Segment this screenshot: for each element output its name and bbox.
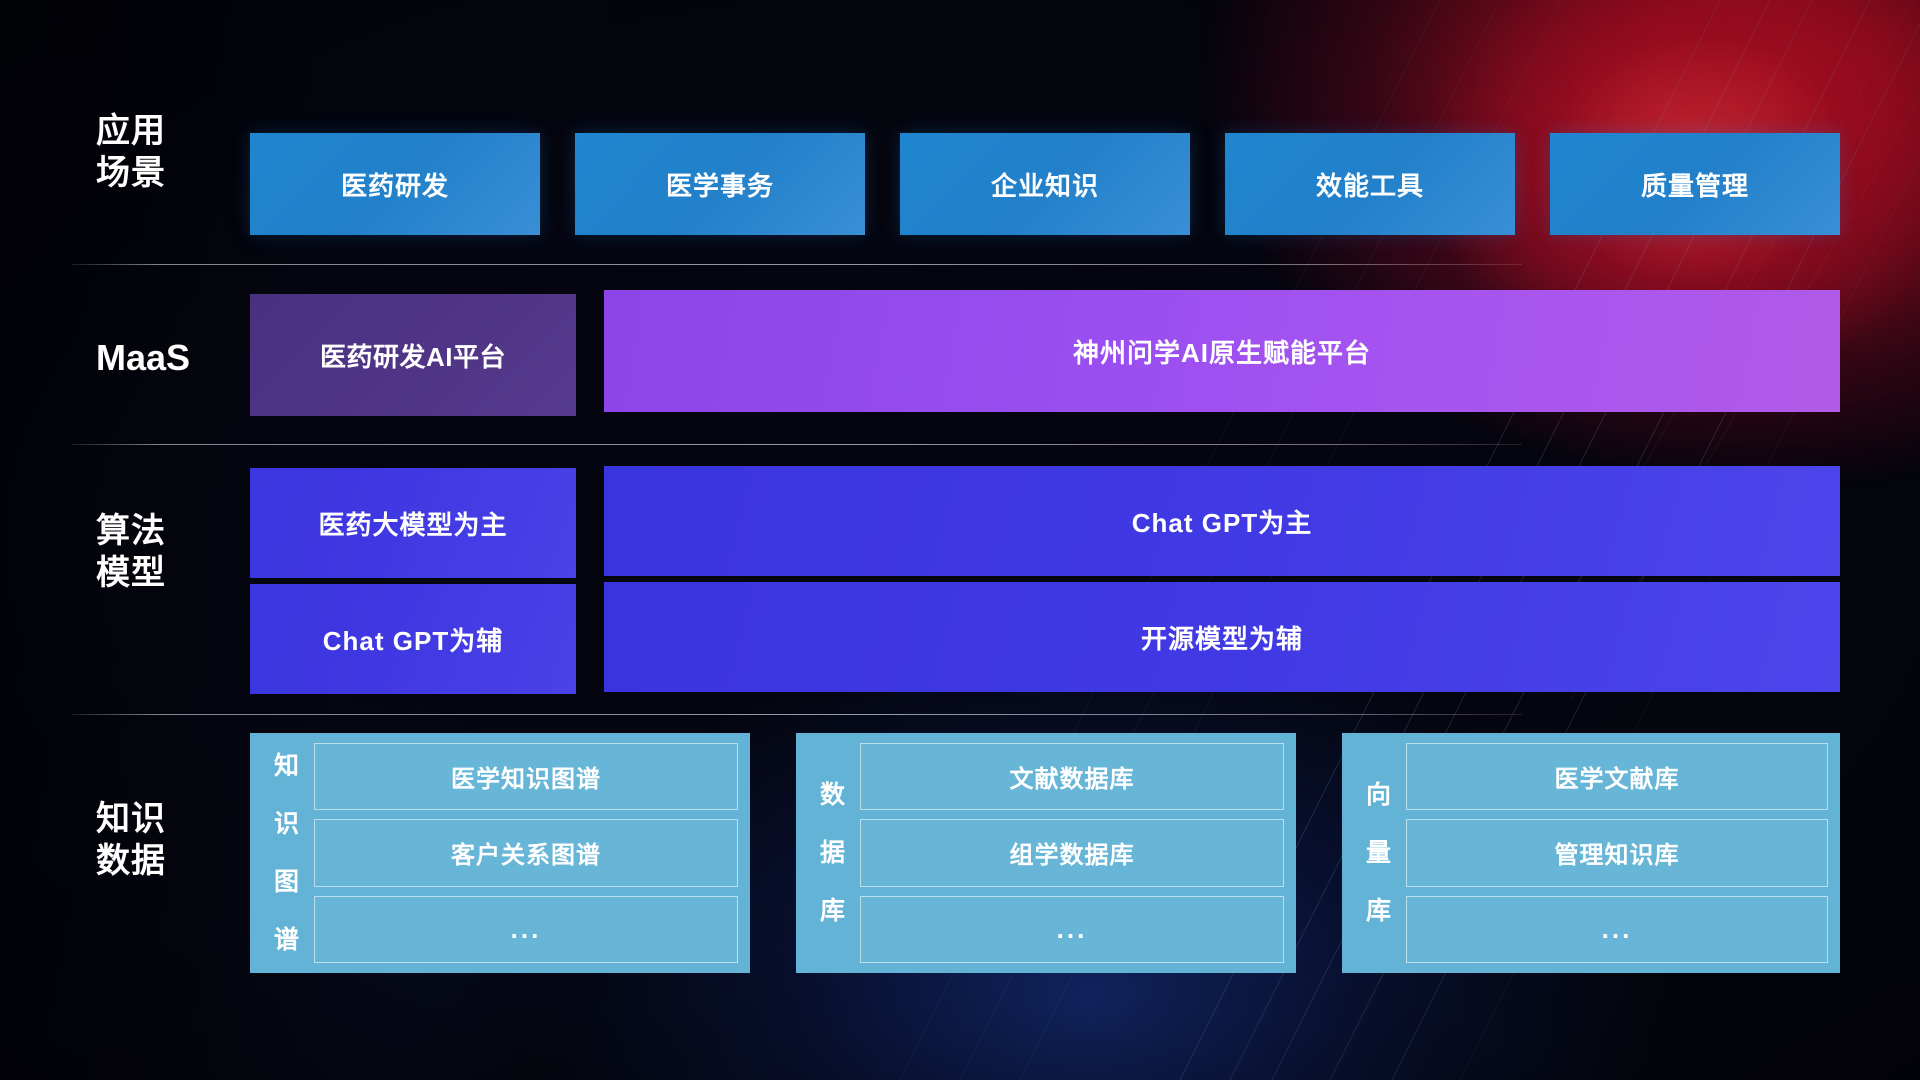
knowledge-item[interactable]: 组学数据库 — [860, 819, 1284, 886]
scenario-box-label: 医学事务 — [666, 166, 774, 203]
knowledge-group-label-char: 知 — [274, 752, 300, 781]
scenario-box-1[interactable]: 医药研发 — [250, 133, 540, 235]
maas-platform-box-right[interactable]: 神州问学AI原生赋能平台 — [604, 290, 1840, 412]
scenario-box-label: 医药研发 — [341, 166, 449, 203]
row-label-line: 知识 — [96, 798, 216, 840]
knowledge-item[interactable]: 文献数据库 — [860, 743, 1284, 810]
knowledge-item-label: ... — [1602, 914, 1633, 945]
knowledge-group-vector-database[interactable]: 向 量 库 医学文献库 管理知识库 ... — [1342, 733, 1840, 973]
row-label-line: MaaS — [96, 337, 216, 379]
row-label-algorithm-model: 算法 模型 — [96, 510, 216, 594]
knowledge-group-label-char: 库 — [1366, 897, 1392, 926]
knowledge-item-label: 客户关系图谱 — [451, 835, 601, 870]
row-label-application-scenario: 应用 场景 — [96, 110, 216, 194]
scenario-box-3[interactable]: 企业知识 — [900, 133, 1190, 235]
divider-2 — [72, 444, 1522, 445]
knowledge-item-label: 文献数据库 — [1010, 759, 1135, 794]
knowledge-item-more[interactable]: ... — [860, 896, 1284, 963]
divider-3 — [72, 714, 1522, 715]
knowledge-item-label: 医学知识图谱 — [451, 759, 601, 794]
algorithm-box-right-primary[interactable]: Chat GPT为主 — [604, 466, 1840, 576]
knowledge-group-label-database: 数 据 库 — [806, 743, 860, 963]
knowledge-group-label-knowledge-graph: 知 识 图 谱 — [260, 743, 314, 963]
knowledge-group-label-vector-database: 向 量 库 — [1352, 743, 1406, 963]
algorithm-box-label: Chat GPT为主 — [1132, 503, 1312, 540]
knowledge-group-label-char: 数 — [820, 781, 846, 810]
knowledge-group-label-char: 识 — [274, 810, 300, 839]
row-label-line: 算法 — [96, 510, 216, 552]
scenario-box-label: 企业知识 — [991, 166, 1099, 203]
scenario-box-4[interactable]: 效能工具 — [1225, 133, 1515, 235]
knowledge-item-list: 文献数据库 组学数据库 ... — [860, 743, 1284, 963]
algorithm-box-label: 医药大模型为主 — [318, 505, 507, 542]
scenario-box-2[interactable]: 医学事务 — [575, 133, 865, 235]
row-label-line: 数据 — [96, 840, 216, 882]
knowledge-item-label: 组学数据库 — [1010, 835, 1135, 870]
knowledge-group-label-char: 向 — [1366, 781, 1392, 810]
knowledge-item-label: ... — [511, 914, 542, 945]
divider-1 — [72, 264, 1522, 265]
algorithm-box-right-secondary[interactable]: 开源模型为辅 — [604, 582, 1840, 692]
knowledge-item-more[interactable]: ... — [1406, 896, 1828, 963]
algorithm-box-label: 开源模型为辅 — [1141, 619, 1303, 656]
knowledge-group-knowledge-graph[interactable]: 知 识 图 谱 医学知识图谱 客户关系图谱 ... — [250, 733, 750, 973]
knowledge-item[interactable]: 客户关系图谱 — [314, 819, 738, 886]
knowledge-item[interactable]: 管理知识库 — [1406, 819, 1828, 886]
knowledge-group-label-char: 据 — [820, 839, 846, 868]
algorithm-box-left-primary[interactable]: 医药大模型为主 — [250, 468, 576, 578]
scenario-box-label: 质量管理 — [1641, 166, 1749, 203]
row-label-line: 模型 — [96, 552, 216, 594]
knowledge-item-more[interactable]: ... — [314, 896, 738, 963]
row-label-line: 场景 — [96, 152, 216, 194]
maas-box-label: 医药研发AI平台 — [320, 337, 506, 374]
row-label-line: 应用 — [96, 110, 216, 152]
knowledge-group-label-char: 图 — [274, 868, 300, 897]
knowledge-item-label: 医学文献库 — [1555, 759, 1680, 794]
knowledge-group-label-char: 库 — [820, 897, 846, 926]
knowledge-item-label: ... — [1057, 914, 1088, 945]
knowledge-group-database[interactable]: 数 据 库 文献数据库 组学数据库 ... — [796, 733, 1296, 973]
knowledge-item-list: 医学文献库 管理知识库 ... — [1406, 743, 1828, 963]
row-label-knowledge-data: 知识 数据 — [96, 798, 216, 882]
knowledge-item[interactable]: 医学文献库 — [1406, 743, 1828, 810]
algorithm-box-left-secondary[interactable]: Chat GPT为辅 — [250, 584, 576, 694]
scenario-box-label: 效能工具 — [1316, 166, 1424, 203]
knowledge-item-list: 医学知识图谱 客户关系图谱 ... — [314, 743, 738, 963]
knowledge-item-label: 管理知识库 — [1555, 835, 1680, 870]
algorithm-box-label: Chat GPT为辅 — [323, 621, 503, 658]
maas-platform-box-left[interactable]: 医药研发AI平台 — [250, 294, 576, 416]
scenario-box-5[interactable]: 质量管理 — [1550, 133, 1840, 235]
knowledge-group-label-char: 量 — [1366, 839, 1392, 868]
maas-box-label: 神州问学AI原生赋能平台 — [1073, 333, 1371, 370]
knowledge-group-label-char: 谱 — [274, 926, 300, 955]
knowledge-item[interactable]: 医学知识图谱 — [314, 743, 738, 810]
row-label-maas: MaaS — [96, 337, 216, 379]
